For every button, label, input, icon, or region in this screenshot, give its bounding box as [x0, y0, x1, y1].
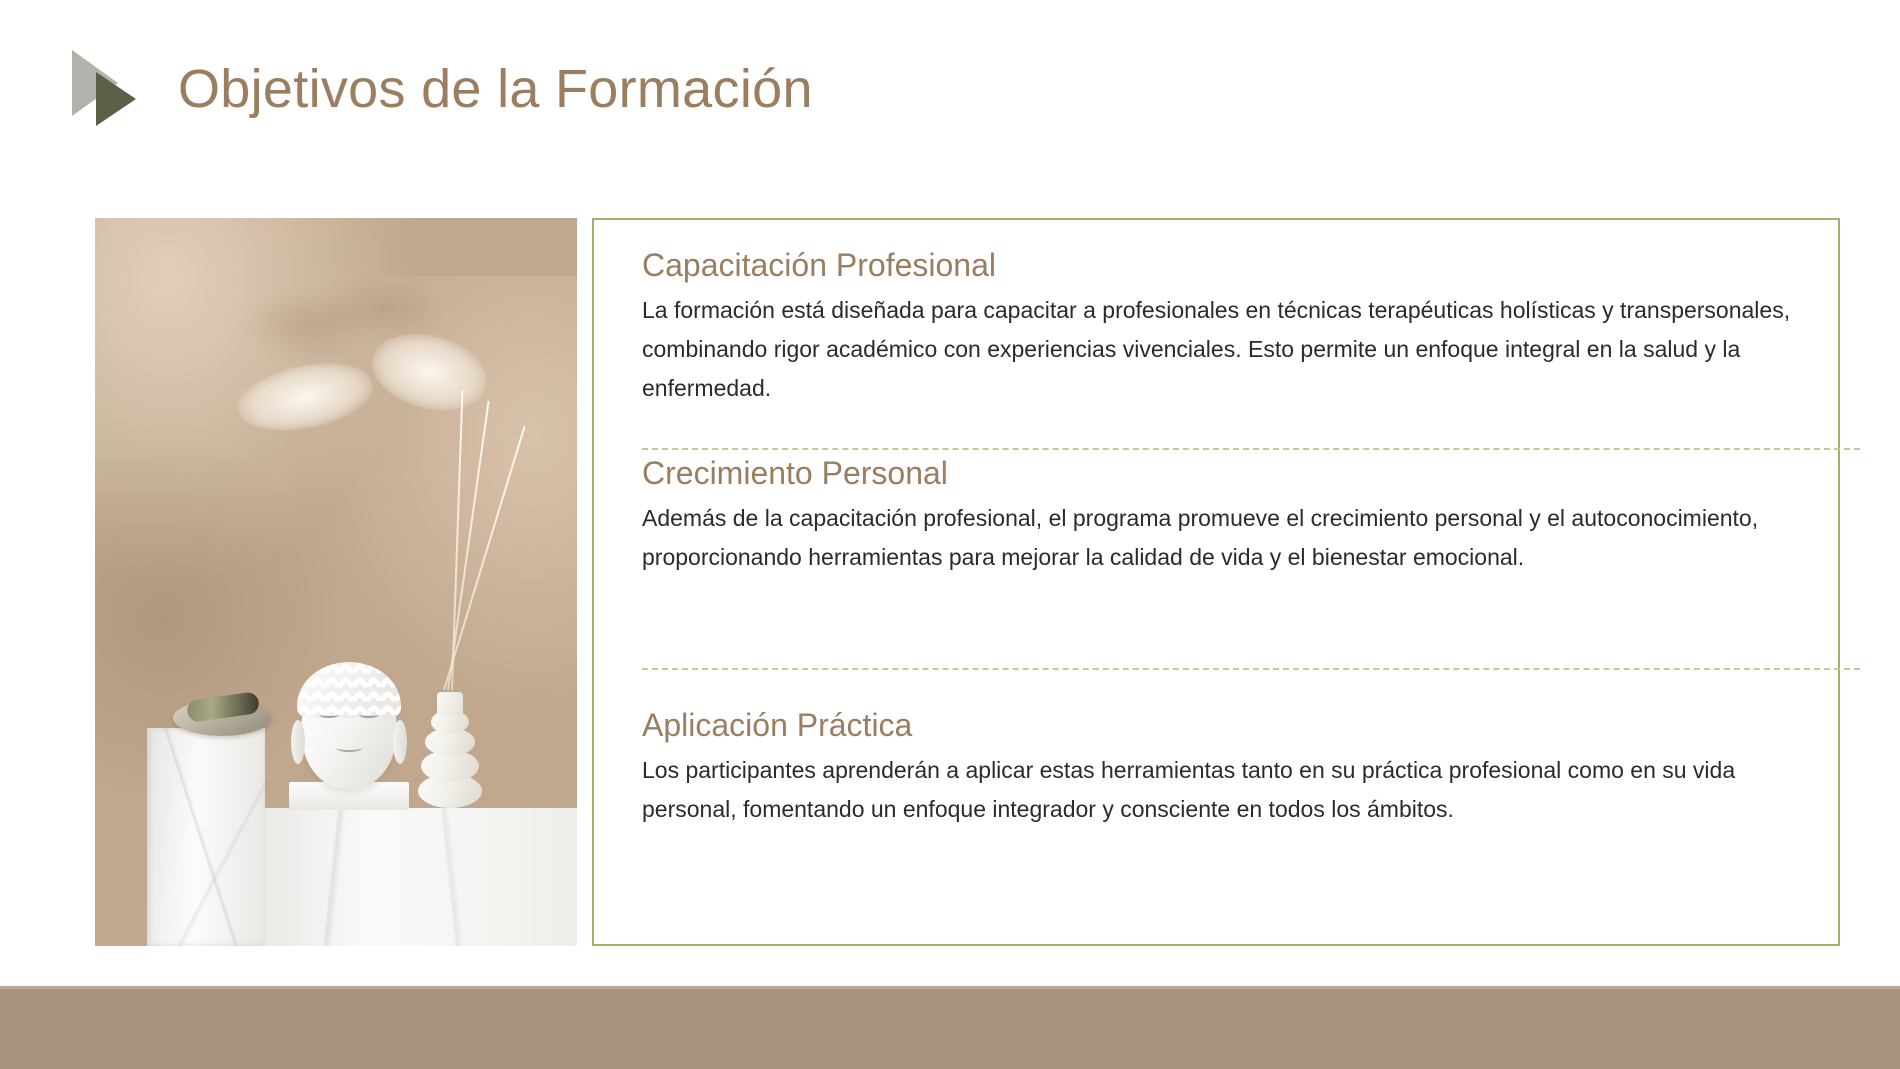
- buddha-ear-left: [291, 720, 305, 764]
- buddha-eye-left: [319, 711, 339, 718]
- section-heading: Crecimiento Personal: [642, 452, 1802, 495]
- page-title: Objetivos de la Formación: [178, 58, 813, 120]
- section-capacitacion-profesional: Capacitación Profesional La formación es…: [642, 244, 1802, 408]
- section-divider: [642, 668, 1860, 670]
- zen-still-life-photo: [95, 218, 577, 946]
- section-crecimiento-personal: Crecimiento Personal Además de la capaci…: [642, 452, 1802, 577]
- section-aplicacion-practica: Aplicación Práctica Los participantes ap…: [642, 704, 1802, 829]
- double-triangle-play-icon: [72, 50, 150, 122]
- triangle-front-shape: [96, 72, 136, 126]
- marble-plinth-right: [265, 808, 577, 946]
- pampas-shadow-right: [323, 276, 443, 340]
- buddha-hair-curls: [297, 662, 401, 718]
- section-body: Además de la capacitación profesional, e…: [642, 499, 1802, 577]
- buddha-mouth: [336, 744, 362, 752]
- section-heading: Capacitación Profesional: [642, 244, 1802, 287]
- vase-neck: [437, 692, 463, 716]
- section-heading: Aplicación Práctica: [642, 704, 1802, 747]
- photo-canvas: [95, 218, 577, 946]
- section-body: Los participantes aprenderán a aplicar e…: [642, 751, 1802, 829]
- buddha-eye-right: [359, 711, 379, 718]
- buddha-head-sculpture: [281, 638, 417, 810]
- slide-header: Objetivos de la Formación: [0, 0, 1900, 170]
- slide: Objetivos de la Formación: [0, 0, 1900, 1069]
- marble-plinth-left: [147, 728, 265, 946]
- footer-band: [0, 986, 1900, 1069]
- buddha-ear-right: [393, 720, 407, 764]
- section-body: La formación está diseñada para capacita…: [642, 291, 1802, 408]
- ribbed-ceramic-vase: [417, 692, 483, 808]
- section-divider: [642, 448, 1860, 450]
- objectives-card: Capacitación Profesional La formación es…: [592, 218, 1840, 946]
